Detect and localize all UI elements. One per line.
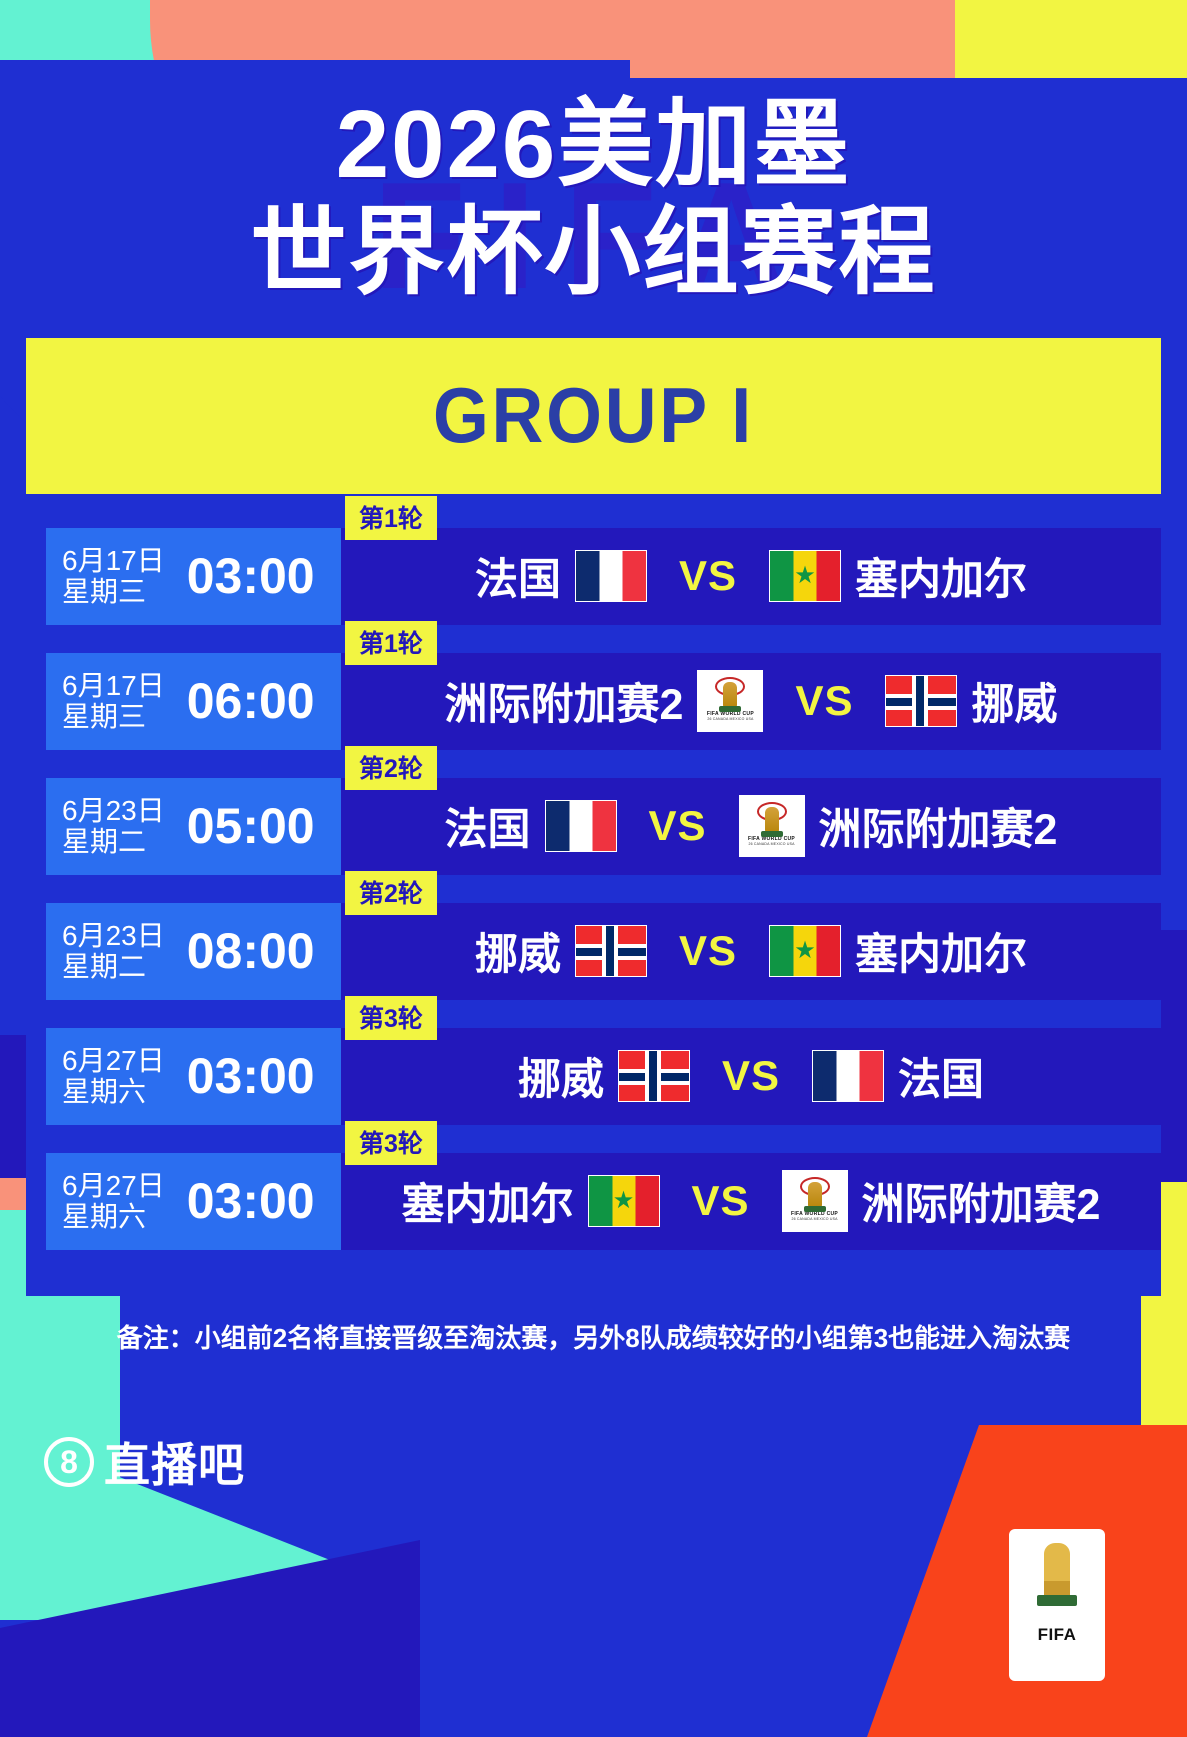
match-time: 03:00 — [187, 1047, 315, 1105]
match-date: 6月23日 — [62, 920, 165, 951]
senegal-flag: ★ — [769, 925, 841, 977]
france-flag — [575, 550, 647, 602]
match-datetime: 6月27日星期六03:00 — [46, 1028, 341, 1125]
round-badge: 第2轮 — [345, 746, 437, 790]
away-team-name: 洲际附加赛2 — [819, 795, 1058, 857]
vs-label: VS — [795, 677, 853, 725]
fifa-world-cup-2026-emblem: FIFA — [1009, 1529, 1105, 1681]
match-teams: 第2轮挪威VS★塞内加尔 — [341, 903, 1161, 1000]
match-date: 6月17日 — [62, 670, 165, 701]
senegal-flag: ★ — [769, 550, 841, 602]
poster-header: FIFA 2026美加墨 世界杯小组赛程 — [0, 0, 1187, 304]
match-datetime: 6月23日星期二05:00 — [46, 778, 341, 875]
norway-flag — [885, 675, 957, 727]
vs-label: VS — [649, 802, 707, 850]
home-team-name: 挪威 — [518, 1045, 604, 1107]
match-time: 03:00 — [187, 547, 315, 605]
zhibo8-logo-icon: 8 — [44, 1437, 94, 1487]
home-team-name: 法国 — [445, 795, 531, 857]
match-datetime: 6月27日星期六03:00 — [46, 1153, 341, 1250]
match-teams: 第2轮法国VSFIFA WORLD CUP26 CANADA MEXICO US… — [341, 778, 1161, 875]
vs-label: VS — [692, 1177, 750, 1225]
round-badge: 第1轮 — [345, 496, 437, 540]
round-badge: 第2轮 — [345, 871, 437, 915]
match-time: 05:00 — [187, 797, 315, 855]
france-flag — [812, 1050, 884, 1102]
match-time: 06:00 — [187, 672, 315, 730]
home-team-name: 塞内加尔 — [402, 1170, 574, 1232]
home-team-name: 挪威 — [475, 920, 561, 982]
group-label: GROUP I — [433, 370, 754, 461]
vs-label: VS — [679, 927, 737, 975]
page-title-line1: 2026美加墨 — [0, 94, 1187, 196]
match-row[interactable]: 6月23日星期二05:00第2轮法国VSFIFA WORLD CUP26 CAN… — [26, 778, 1161, 875]
match-teams: 第1轮洲际附加赛2FIFA WORLD CUP26 CANADA MEXICO … — [341, 653, 1161, 750]
home-team-name: 洲际附加赛2 — [445, 670, 684, 732]
match-date: 6月27日 — [62, 1170, 165, 1201]
deepblue-strip-right — [1161, 930, 1187, 1190]
away-team-name: 塞内加尔 — [855, 545, 1027, 607]
away-team-name: 塞内加尔 — [855, 920, 1027, 982]
away-team-name: 洲际附加赛2 — [862, 1170, 1101, 1232]
round-badge: 第3轮 — [345, 996, 437, 1040]
brand-name: 直播吧 — [104, 1429, 245, 1495]
fifa-world-cup-badge: FIFA WORLD CUP26 CANADA MEXICO USA — [697, 670, 763, 732]
match-row[interactable]: 6月17日星期三03:00第1轮法国VS★塞内加尔 — [26, 528, 1161, 625]
match-datetime: 6月17日星期三06:00 — [46, 653, 341, 750]
fifa-world-cup-badge: FIFA WORLD CUP26 CANADA MEXICO USA — [782, 1170, 848, 1232]
match-weekday: 星期三 — [62, 701, 165, 732]
match-weekday: 星期六 — [62, 1201, 165, 1232]
match-date: 6月17日 — [62, 545, 165, 576]
match-row[interactable]: 6月23日星期二08:00第2轮挪威VS★塞内加尔 — [26, 903, 1161, 1000]
norway-flag — [575, 925, 647, 977]
norway-flag — [618, 1050, 690, 1102]
match-row[interactable]: 6月27日星期六03:00第3轮挪威VS法国 — [26, 1028, 1161, 1125]
fifa-label: FIFA — [1038, 1625, 1077, 1645]
match-teams: 第3轮塞内加尔★VSFIFA WORLD CUP26 CANADA MEXICO… — [341, 1153, 1161, 1250]
senegal-flag: ★ — [588, 1175, 660, 1227]
page-title-line2: 世界杯小组赛程 — [0, 202, 1187, 304]
match-datetime: 6月23日星期二08:00 — [46, 903, 341, 1000]
away-team-name: 挪威 — [971, 670, 1057, 732]
match-weekday: 星期三 — [62, 576, 165, 607]
vs-label: VS — [722, 1052, 780, 1100]
match-teams: 第3轮挪威VS法国 — [341, 1028, 1161, 1125]
match-time: 08:00 — [187, 922, 315, 980]
trophy-icon — [1044, 1543, 1070, 1599]
france-flag — [545, 800, 617, 852]
match-date: 6月23日 — [62, 795, 165, 826]
home-team-name: 法国 — [475, 545, 561, 607]
match-date: 6月27日 — [62, 1045, 165, 1076]
match-schedule-list: 6月17日星期三03:00第1轮法国VS★塞内加尔6月17日星期三06:00第1… — [26, 494, 1161, 1296]
match-row[interactable]: 6月27日星期六03:00第3轮塞内加尔★VSFIFA WORLD CUP26 … — [26, 1153, 1161, 1250]
group-banner: GROUP I — [26, 338, 1161, 494]
match-datetime: 6月17日星期三03:00 — [46, 528, 341, 625]
round-badge: 第3轮 — [345, 1121, 437, 1165]
match-row[interactable]: 6月17日星期三06:00第1轮洲际附加赛2FIFA WORLD CUP26 C… — [26, 653, 1161, 750]
match-teams: 第1轮法国VS★塞内加尔 — [341, 528, 1161, 625]
qualification-note: 备注：小组前2名将直接晋级至淘汰赛，另外8队成绩较好的小组第3也能进入淘汰赛 — [0, 1318, 1187, 1355]
away-team-name: 法国 — [898, 1045, 984, 1107]
match-time: 03:00 — [187, 1172, 315, 1230]
match-weekday: 星期六 — [62, 1076, 165, 1107]
round-badge: 第1轮 — [345, 621, 437, 665]
brand-footer: 8 直播吧 — [0, 1429, 1187, 1495]
fifa-world-cup-badge: FIFA WORLD CUP26 CANADA MEXICO USA — [739, 795, 805, 857]
match-weekday: 星期二 — [62, 951, 165, 982]
vs-label: VS — [679, 552, 737, 600]
match-weekday: 星期二 — [62, 826, 165, 857]
